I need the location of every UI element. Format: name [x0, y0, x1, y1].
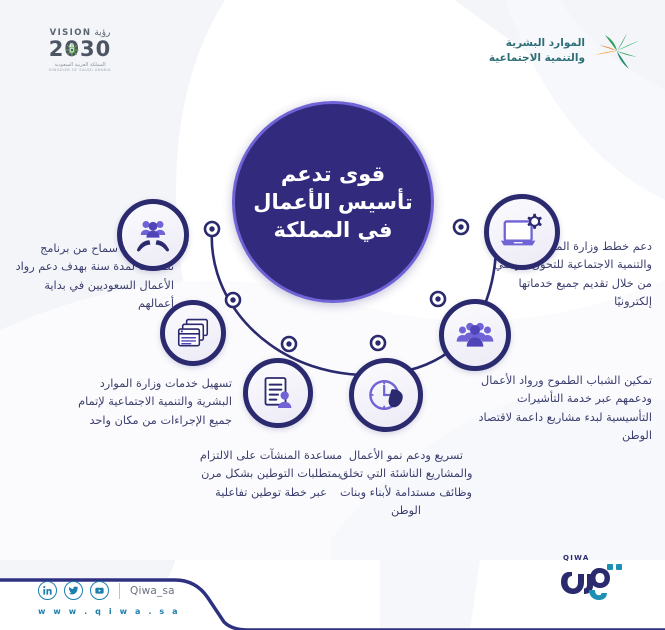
qiwa-logo-text-en: QIWA	[563, 554, 635, 562]
social-divider	[119, 583, 120, 599]
node-saudization[interactable]	[243, 358, 313, 428]
infographic-canvas: VISION رؤية 2030 المملكة العربية السعودي…	[0, 0, 665, 630]
social-links[interactable]: Qiwa_sa	[38, 581, 175, 600]
document-person-icon	[258, 373, 298, 413]
qiwa-logo: QIWA	[561, 554, 635, 606]
hands-holding-people-icon	[132, 214, 174, 256]
central-hub: قوى تدعم تأسيس الأعمال في المملكة	[232, 101, 434, 303]
connector-arc	[0, 0, 665, 630]
node-grace-period[interactable]	[117, 199, 189, 271]
node-services[interactable]	[160, 300, 226, 366]
qiwa-logo-arabic-mark	[561, 562, 635, 602]
page-title: قوى تدعم تأسيس الأعمال في المملكة	[235, 160, 431, 244]
clock-saudi-map-icon	[364, 373, 408, 417]
ministry-name-line1: الموارد البشرية	[489, 36, 585, 51]
item-text-business-growth: تسريع ودعم نمو الأعمال والمشاريع الناشئة…	[335, 447, 477, 520]
node-youth[interactable]	[439, 299, 511, 371]
laptop-gear-icon	[499, 209, 545, 255]
vision-2030-logo: VISION رؤية 2030 المملكة العربية السعودي…	[30, 28, 130, 74]
item-text-one-stop-services: تسهيل خدمات وزارة الموارد البشرية والتنم…	[72, 375, 232, 430]
website-url[interactable]: w w w . q i w a . s a	[38, 607, 180, 616]
item-text-youth-empowerment: تمكين الشباب الطموح ورواد الأعمال ودعمهم…	[478, 372, 652, 445]
node-digital[interactable]	[484, 194, 560, 270]
vision-year: 2030	[30, 39, 130, 60]
vision-subtitle-english: KINGDOM OF SAUDI ARABIA	[30, 68, 130, 72]
twitter-icon[interactable]	[64, 581, 83, 600]
youtube-icon[interactable]	[90, 581, 109, 600]
stacked-windows-icon	[174, 314, 212, 352]
ministry-name-line2: والتنمية الاجتماعية	[489, 51, 585, 66]
group-of-people-icon	[455, 315, 495, 355]
social-handle: Qiwa_sa	[130, 585, 175, 597]
linkedin-icon[interactable]	[38, 581, 57, 600]
item-text-saudization-plan: مساعدة المنشآت على الالتزام بمتطلبات الت…	[196, 447, 346, 502]
background-decoration	[0, 0, 665, 630]
ministry-hrsd-logo: الموارد البشرية والتنمية الاجتماعية	[489, 28, 641, 74]
vision-2030-motif-icon	[64, 42, 80, 58]
hrsd-star-burst-icon	[593, 31, 641, 71]
node-growth[interactable]	[349, 358, 423, 432]
